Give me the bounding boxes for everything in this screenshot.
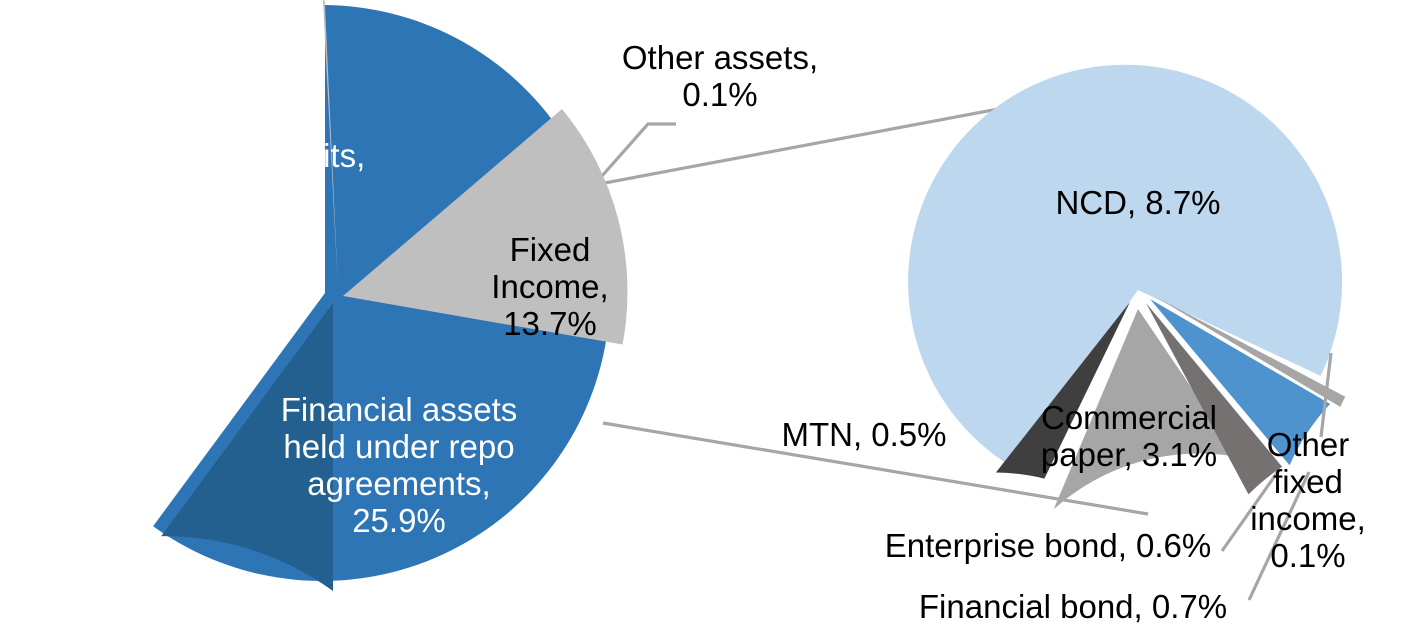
pie-of-pie-chart: Bank deposits, 60.3% Other assets, 0.1% … xyxy=(0,0,1404,644)
label-enterprise-bond: Enterprise bond, 0.6% xyxy=(873,528,1223,565)
label-other-fixed-income: Other fixed income, 0.1% xyxy=(1248,427,1368,575)
label-fixed-income: Fixed Income, 13.7% xyxy=(465,232,635,343)
label-financial-bond: Financial bond, 0.7% xyxy=(903,589,1243,626)
label-repo-agreements: Financial assets held under repo agreeme… xyxy=(249,392,549,540)
label-bank-deposits: Bank deposits, 60.3% xyxy=(92,138,422,212)
label-commercial-paper: Commercial paper, 3.1% xyxy=(1024,400,1234,474)
label-ncd: NCD, 8.7% xyxy=(1043,185,1233,222)
label-mtn: MTN, 0.5% xyxy=(764,417,964,454)
label-other-assets: Other assets, 0.1% xyxy=(600,40,840,114)
